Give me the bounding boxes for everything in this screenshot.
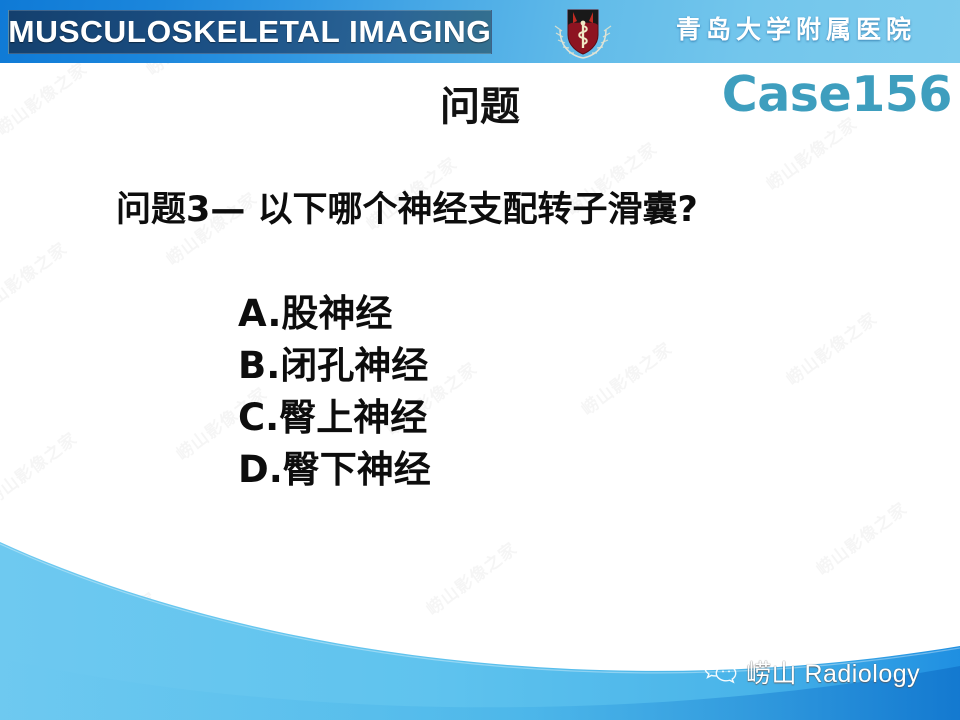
watermark-text: 崂山影像之家: [0, 425, 81, 510]
footer-brand: 崂山 Radiology: [703, 654, 920, 690]
case-number-label: Case156: [722, 66, 952, 123]
watermark-text: 崂山影像之家: [780, 305, 881, 390]
answer-option-b[interactable]: B.闭孔神经: [238, 340, 431, 392]
footer-wave-decoration: [0, 520, 960, 720]
series-label-box: MUSCULOSKELETAL IMAGING: [8, 10, 492, 54]
slide-canvas: 崂山影像之家 崂山影像之家 崂山影像之家 崂山影像之家 崂山影像之家 崂山影像之…: [0, 0, 960, 720]
answer-option-a[interactable]: A.股神经: [238, 288, 431, 340]
brand-name-text: 崂山 Radiology: [746, 654, 920, 690]
watermark-text: 崂山影像之家: [0, 235, 71, 320]
series-label-text: MUSCULOSKELETAL IMAGING: [8, 14, 491, 50]
answer-option-c[interactable]: C.臀上神经: [238, 392, 431, 444]
answer-options-list: A.股神经 B.闭孔神经 C.臀上神经 D.臀下神经: [238, 288, 431, 496]
answer-option-d[interactable]: D.臀下神经: [238, 444, 431, 496]
question-stem: 问题3— 以下哪个神经支配转子滑囊?: [116, 181, 698, 232]
watermark-text: 崂山影像之家: [575, 335, 676, 420]
hospital-name-text: 青岛大学附属医院: [676, 10, 916, 46]
wechat-bubbles-icon: [703, 656, 739, 689]
header-banner: MUSCULOSKELETAL IMAGING: [0, 0, 960, 63]
hospital-shield-crest-icon: [552, 1, 614, 61]
